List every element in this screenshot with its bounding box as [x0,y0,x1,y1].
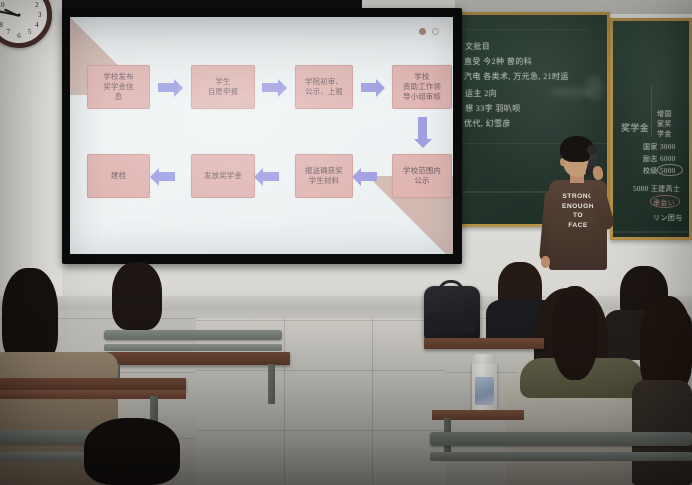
flow-step-8: 建档 [87,154,150,198]
presenter-left-hand [541,256,550,268]
presenter-right-hand [592,165,604,181]
clock-num-11: 11 [5,0,12,2]
white-thermos-bottle [472,360,497,413]
chalk-line-l6: 优代, 幻雪彦 [464,118,511,129]
flow-arrow-7-8-icon [159,172,175,181]
chalk-line-r9: 承会い [653,198,675,208]
thermos-lid [473,354,496,364]
desk-right-back [424,338,544,349]
clock-num-3: 3 [38,11,42,19]
flow-step-2: 学生自愿申报 [191,65,255,109]
chalk-line-r3: 家奖 [657,119,672,129]
flow-arrow-2-3-icon [262,83,278,92]
chalk-line-l1: 文批目 [465,41,490,52]
thermos-printed-label [475,377,494,405]
flow-step-5: 学校范围内公示 [392,154,452,198]
flow-step-7: 发放奖学金 [191,154,255,198]
clock-num-2: 2 [35,1,39,9]
flow-step-6: 报送确获奖学生材料 [295,154,353,198]
student-ponytail-right-1 [552,286,598,380]
clock-num-5: 5 [28,28,32,36]
flow-arrow-5-6-icon [361,172,377,181]
desk-leg-far-2 [268,364,275,404]
black-backpack [424,286,480,342]
presentation-slide: 学校发布奖学金信息 学生自愿申报 学院初审、公示、上报 学校资助工作领导小组审核… [70,17,453,254]
slide-indicator-dots [419,28,439,35]
wall-clock-icon: 12 1 2 3 4 5 6 7 8 9 10 11 [0,0,52,48]
bench-slat-right [430,452,692,461]
student-head-right-2 [640,296,692,392]
chalk-line-r7: 校级 5000 [643,166,676,176]
chalk-line-r2: 增国 [657,109,672,119]
chalk-smudge-1 [550,87,592,98]
chalk-line-r8: 5000 王建高士 [633,184,680,194]
desk-far-left [96,352,290,365]
presenter: STRONGENOUGHTOFACE [536,136,622,270]
student-head-left-1 [2,268,58,364]
chalk-line-l5: 想 33字 羽叭呗 [465,103,521,114]
chalk-divider-1 [651,85,652,137]
clock-center-pin [18,14,21,17]
chalk-streak-1 [466,29,586,30]
flow-arrow-4-5-icon [418,117,427,139]
chalk-line-r6: 励志 6000 [643,154,676,164]
clock-face: 12 1 2 3 4 5 6 7 8 9 10 11 [0,0,47,43]
clock-num-6: 6 [17,32,21,40]
chalk-circle-1 [657,164,683,176]
chalk-line-l2: 直受 今2种 曾的科 [464,56,532,67]
aisle-tile-line-4 [284,318,285,485]
flow-step-3: 学院初审、公示、上报 [295,65,353,109]
bench-backrest-far [104,330,282,340]
flow-arrow-1-2-icon [158,83,174,92]
desk-edge-left [0,390,186,399]
flow-arrow-3-4-icon [361,83,376,92]
clock-num-1: 1 [28,0,32,2]
slide-canvas: 学校发布奖学金信息 学生自愿申报 学院初审、公示、上报 学校资助工作领导小组审核… [70,17,453,254]
slide-indicator-filled-icon [419,28,426,35]
microphone-head-icon [587,145,597,155]
clock-num-4: 4 [35,21,39,29]
aisle-tile-line-2 [196,370,446,371]
student-head-front-1 [84,418,180,485]
aisle-tile-line-1 [196,320,446,321]
backpack-front-pocket [429,313,475,333]
chalk-line-r1: 奖学金 [621,121,649,134]
blackboard-right-ledge-line [613,231,689,233]
chalk-line-l4: 运主 2向 [465,88,497,99]
bench-slat-far [104,344,282,351]
chalk-smudge-2 [586,75,602,101]
blackboard-right-surface: 奖学金 增国 家奖 学金 国家 3000 励志 6000 校级 5000 500… [613,21,689,237]
chalk-line-r4: 学金 [657,129,672,139]
classroom-scene: 12 1 2 3 4 5 6 7 8 9 10 11 文批目 直受 今2种 曾的… [0,0,692,485]
projection-screen: 学校发布奖学金信息 学生自愿申报 学院初审、公示、上报 学校资助工作领导小组审核… [62,8,462,264]
blackboard-right: 奖学金 增国 家奖 学金 国家 3000 励志 6000 校级 5000 500… [610,18,692,240]
clock-num-8: 8 [0,21,3,29]
aisle-tile-line-3 [196,430,446,431]
flow-step-4: 学校资助工作领导小组审核 [392,65,452,109]
student-head-far-1 [112,262,162,330]
chalk-line-r10: リン团与 [653,213,683,223]
flow-arrow-6-7-icon [263,172,279,181]
slide-indicator-hollow-icon [432,28,439,35]
aisle-tile-line-5 [372,318,373,485]
clock-num-7: 7 [7,28,11,36]
chalk-line-l3: 汽电 各类术, 万元急, 21时运 [464,71,569,82]
chalk-circle-2 [650,195,680,208]
bench-backrest-right [430,432,692,446]
chalk-line-r5: 国家 3000 [643,142,676,152]
flow-step-1: 学校发布奖学金信息 [87,65,150,109]
